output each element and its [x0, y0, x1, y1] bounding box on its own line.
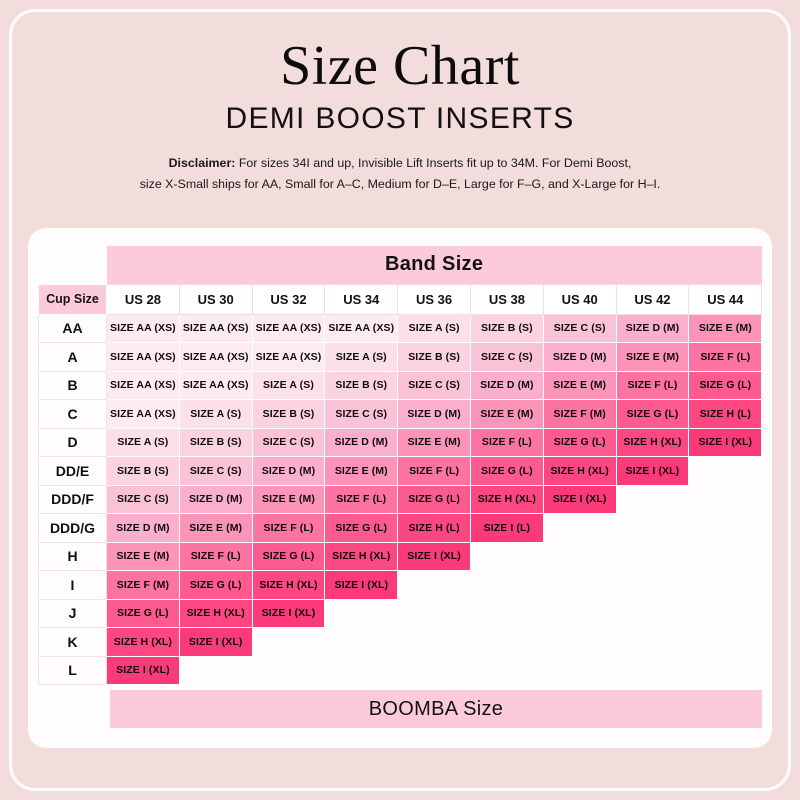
size-cell-empty [616, 656, 689, 685]
cup-size-row-label: B [39, 371, 107, 400]
size-cell: SIZE F (L) [470, 428, 543, 457]
size-cell-empty [543, 628, 616, 657]
size-cell-empty [252, 628, 325, 657]
size-cell: SIZE B (S) [398, 343, 471, 372]
table-row: DD/ESIZE B (S)SIZE C (S)SIZE D (M)SIZE E… [39, 457, 762, 486]
size-cell: SIZE AA (XS) [179, 371, 252, 400]
size-cell: SIZE I (XL) [398, 542, 471, 571]
corner-blank-cell [39, 246, 107, 284]
size-cell: SIZE C (S) [252, 428, 325, 457]
size-cell: SIZE G (L) [616, 400, 689, 429]
size-cell-empty [470, 542, 543, 571]
size-cell: SIZE AA (XS) [252, 343, 325, 372]
size-cell: SIZE B (S) [470, 314, 543, 343]
size-cell: SIZE AA (XS) [179, 343, 252, 372]
size-cell: SIZE E (M) [543, 371, 616, 400]
disclaimer-label: Disclaimer: [169, 156, 236, 170]
size-cell-empty [325, 656, 398, 685]
size-cell-empty [616, 599, 689, 628]
cup-size-row-label: AA [39, 314, 107, 343]
band-size-banner: Band Size [107, 246, 762, 284]
size-cell: SIZE D (M) [616, 314, 689, 343]
cup-size-header: Cup Size [39, 284, 107, 314]
size-cell: SIZE D (M) [470, 371, 543, 400]
size-cell-empty [616, 628, 689, 657]
size-cell: SIZE B (S) [107, 457, 180, 486]
size-cell: SIZE A (S) [252, 371, 325, 400]
size-cell-empty [398, 571, 471, 600]
size-cell: SIZE H (XL) [179, 599, 252, 628]
size-cell: SIZE C (S) [179, 457, 252, 486]
disclaimer-line-1: For sizes 34I and up, Invisible Lift Ins… [235, 156, 631, 170]
disclaimer-line-2: size X-Small ships for AA, Small for A–C… [140, 177, 661, 191]
page-title: Size Chart [30, 36, 770, 96]
page-content: Size Chart DEMI BOOST INSERTS Disclaimer… [0, 0, 800, 800]
band-size-header-us-42: US 42 [616, 284, 689, 314]
size-cell-empty [616, 542, 689, 571]
band-size-header-us-28: US 28 [107, 284, 180, 314]
band-size-header-us-30: US 30 [179, 284, 252, 314]
table-row: DDD/GSIZE D (M)SIZE E (M)SIZE F (L)SIZE … [39, 514, 762, 543]
size-cell-empty [398, 599, 471, 628]
size-cell: SIZE G (L) [543, 428, 616, 457]
band-size-header-us-40: US 40 [543, 284, 616, 314]
table-row: JSIZE G (L)SIZE H (XL)SIZE I (XL) [39, 599, 762, 628]
size-cell-empty [689, 571, 762, 600]
disclaimer-text: Disclaimer: For sizes 34I and up, Invisi… [100, 153, 700, 193]
size-cell: SIZE E (M) [689, 314, 762, 343]
table-row: DSIZE A (S)SIZE B (S)SIZE C (S)SIZE D (M… [39, 428, 762, 457]
size-cell: SIZE AA (XS) [107, 314, 180, 343]
size-cell: SIZE D (M) [325, 428, 398, 457]
size-cell: SIZE F (L) [689, 343, 762, 372]
cup-size-row-label: L [39, 656, 107, 685]
boomba-size-footer: BOOMBA Size [110, 690, 762, 728]
size-cell-empty [252, 656, 325, 685]
size-cell: SIZE C (S) [470, 343, 543, 372]
size-cell-empty [470, 656, 543, 685]
size-cell: SIZE H (XL) [616, 428, 689, 457]
cup-size-row-label: H [39, 542, 107, 571]
size-cell: SIZE F (L) [398, 457, 471, 486]
table-row: ISIZE F (M)SIZE G (L)SIZE H (XL)SIZE I (… [39, 571, 762, 600]
size-cell-empty [616, 485, 689, 514]
band-size-header-us-36: US 36 [398, 284, 471, 314]
size-cell: SIZE E (M) [252, 485, 325, 514]
table-row: BSIZE AA (XS)SIZE AA (XS)SIZE A (S)SIZE … [39, 371, 762, 400]
size-cell: SIZE B (S) [179, 428, 252, 457]
size-cell: SIZE H (XL) [470, 485, 543, 514]
size-cell: SIZE A (S) [179, 400, 252, 429]
size-cell: SIZE C (S) [325, 400, 398, 429]
size-cell: SIZE F (L) [179, 542, 252, 571]
band-size-header-us-34: US 34 [325, 284, 398, 314]
size-cell: SIZE A (S) [325, 343, 398, 372]
table-row: KSIZE H (XL)SIZE I (XL) [39, 628, 762, 657]
size-cell: SIZE E (M) [470, 400, 543, 429]
size-cell-empty [543, 656, 616, 685]
size-cell-empty [689, 656, 762, 685]
size-cell-empty [616, 514, 689, 543]
size-cell: SIZE E (M) [325, 457, 398, 486]
table-row: AASIZE AA (XS)SIZE AA (XS)SIZE AA (XS)SI… [39, 314, 762, 343]
size-cell: SIZE B (S) [252, 400, 325, 429]
size-cell: SIZE D (M) [107, 514, 180, 543]
size-cell: SIZE E (M) [616, 343, 689, 372]
size-cell: SIZE G (L) [470, 457, 543, 486]
size-cell: SIZE I (XL) [689, 428, 762, 457]
size-cell: SIZE H (XL) [325, 542, 398, 571]
band-size-header-us-44: US 44 [689, 284, 762, 314]
size-cell-empty [543, 542, 616, 571]
size-cell: SIZE F (L) [252, 514, 325, 543]
size-cell: SIZE F (M) [107, 571, 180, 600]
size-cell: SIZE I (XL) [252, 599, 325, 628]
cup-size-row-label: I [39, 571, 107, 600]
band-size-header-us-38: US 38 [470, 284, 543, 314]
size-cell: SIZE I (XL) [616, 457, 689, 486]
size-cell-empty [398, 656, 471, 685]
size-cell: SIZE F (M) [543, 400, 616, 429]
size-cell: SIZE AA (XS) [179, 314, 252, 343]
size-cell-empty [325, 628, 398, 657]
size-cell-empty [689, 628, 762, 657]
size-cell-empty [543, 571, 616, 600]
size-cell: SIZE B (S) [325, 371, 398, 400]
size-cell: SIZE E (M) [107, 542, 180, 571]
size-cell: SIZE G (L) [179, 571, 252, 600]
size-cell: SIZE H (XL) [543, 457, 616, 486]
size-cell: SIZE AA (XS) [107, 343, 180, 372]
size-cell-empty [689, 599, 762, 628]
size-cell: SIZE D (M) [398, 400, 471, 429]
size-cell: SIZE AA (XS) [107, 400, 180, 429]
table-row: LSIZE I (XL) [39, 656, 762, 685]
table-body: AASIZE AA (XS)SIZE AA (XS)SIZE AA (XS)SI… [39, 314, 762, 685]
size-cell-empty [470, 599, 543, 628]
size-cell: SIZE D (M) [543, 343, 616, 372]
size-cell: SIZE G (L) [325, 514, 398, 543]
size-cell-empty [689, 514, 762, 543]
column-header-row: Cup Size US 28US 30US 32US 34US 36US 38U… [39, 284, 762, 314]
size-cell-empty [543, 514, 616, 543]
size-cell: SIZE I (L) [470, 514, 543, 543]
table-row: ASIZE AA (XS)SIZE AA (XS)SIZE AA (XS)SIZ… [39, 343, 762, 372]
size-cell: SIZE I (XL) [325, 571, 398, 600]
size-cell: SIZE I (XL) [107, 656, 180, 685]
table-row: HSIZE E (M)SIZE F (L)SIZE G (L)SIZE H (X… [39, 542, 762, 571]
size-cell-empty [689, 542, 762, 571]
size-cell: SIZE C (S) [398, 371, 471, 400]
size-cell-empty [398, 628, 471, 657]
size-cell: SIZE F (L) [325, 485, 398, 514]
size-cell: SIZE I (XL) [179, 628, 252, 657]
cup-size-row-label: DDD/F [39, 485, 107, 514]
size-cell: SIZE AA (XS) [325, 314, 398, 343]
size-cell: SIZE G (L) [107, 599, 180, 628]
cup-size-row-label: K [39, 628, 107, 657]
size-cell: SIZE A (S) [398, 314, 471, 343]
size-chart-card: Band Size Cup Size US 28US 30US 32US 34U… [28, 228, 772, 748]
size-cell: SIZE G (L) [252, 542, 325, 571]
size-cell: SIZE AA (XS) [252, 314, 325, 343]
cup-size-row-label: D [39, 428, 107, 457]
size-cell: SIZE D (M) [179, 485, 252, 514]
size-cell: SIZE H (L) [398, 514, 471, 543]
cup-size-row-label: DD/E [39, 457, 107, 486]
size-cell: SIZE G (L) [689, 371, 762, 400]
size-cell: SIZE C (S) [543, 314, 616, 343]
table-row: DDD/FSIZE C (S)SIZE D (M)SIZE E (M)SIZE … [39, 485, 762, 514]
cup-size-row-label: J [39, 599, 107, 628]
size-cell-empty [179, 656, 252, 685]
size-cell: SIZE I (XL) [543, 485, 616, 514]
table-row: CSIZE AA (XS)SIZE A (S)SIZE B (S)SIZE C … [39, 400, 762, 429]
size-cell: SIZE H (XL) [107, 628, 180, 657]
band-banner-row: Band Size [39, 246, 762, 284]
cup-size-row-label: DDD/G [39, 514, 107, 543]
cup-size-row-label: A [39, 343, 107, 372]
size-cell: SIZE A (S) [107, 428, 180, 457]
size-cell: SIZE D (M) [252, 457, 325, 486]
size-cell: SIZE F (L) [616, 371, 689, 400]
size-cell: SIZE E (M) [398, 428, 471, 457]
size-cell: SIZE H (L) [689, 400, 762, 429]
size-cell-empty [470, 571, 543, 600]
size-cell-empty [470, 628, 543, 657]
band-size-header-us-32: US 32 [252, 284, 325, 314]
size-cell-empty [689, 457, 762, 486]
size-cell-empty [325, 599, 398, 628]
size-cell: SIZE AA (XS) [107, 371, 180, 400]
cup-size-row-label: C [39, 400, 107, 429]
size-cell-empty [616, 571, 689, 600]
size-cell: SIZE G (L) [398, 485, 471, 514]
page-subtitle: DEMI BOOST INSERTS [30, 102, 770, 135]
size-cell: SIZE H (XL) [252, 571, 325, 600]
table-head: Band Size Cup Size US 28US 30US 32US 34U… [39, 246, 762, 314]
size-cell-empty [543, 599, 616, 628]
size-chart-table: Band Size Cup Size US 28US 30US 32US 34U… [38, 246, 762, 685]
size-cell: SIZE E (M) [179, 514, 252, 543]
size-cell-empty [689, 485, 762, 514]
size-cell: SIZE C (S) [107, 485, 180, 514]
